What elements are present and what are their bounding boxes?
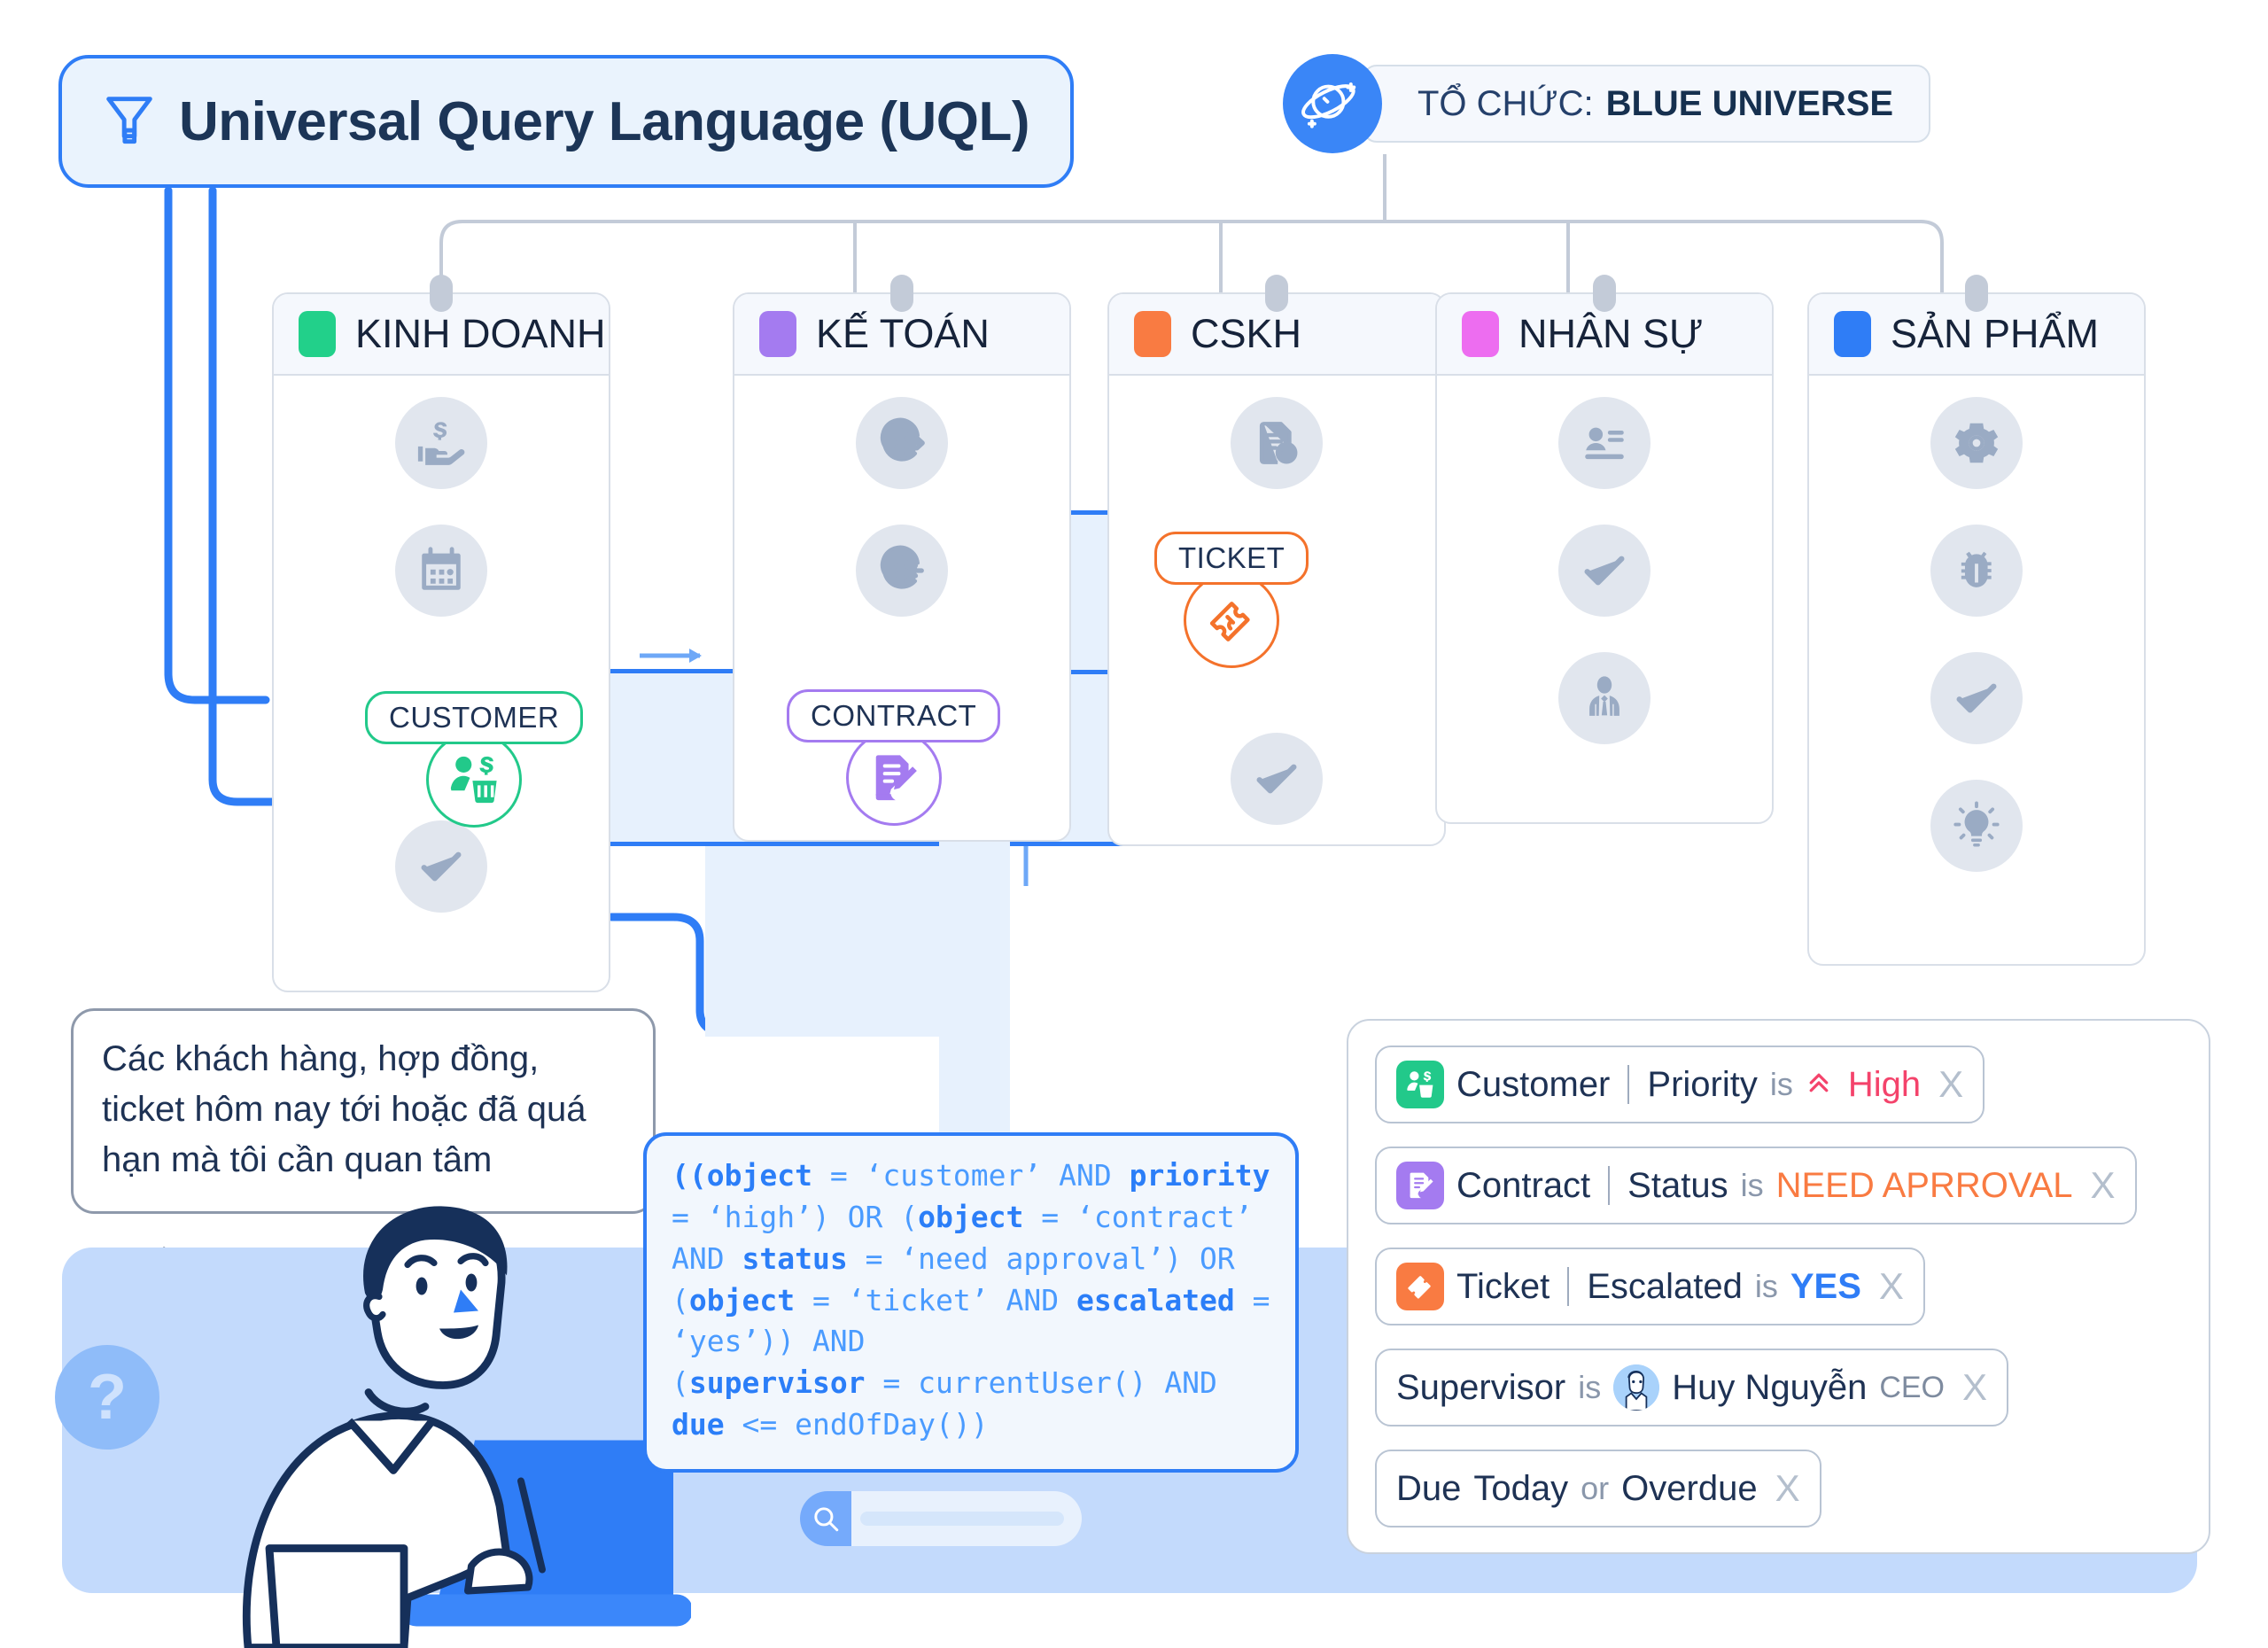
dept-knob: [890, 275, 913, 312]
remove-filter-button[interactable]: X: [1962, 1366, 1987, 1409]
code-line-5: (supervisor = currentUser() AND: [672, 1365, 1217, 1400]
filter-value: NEED APRROVAL: [1776, 1166, 2073, 1206]
dept-color-swatch: [759, 311, 796, 357]
dept-color-swatch: [1134, 311, 1171, 357]
remove-filter-button[interactable]: X: [1879, 1265, 1904, 1308]
document-check-icon: [1231, 397, 1323, 489]
dept-name: KẾ TOÁN: [816, 311, 990, 357]
dept-column-kinh-doanh[interactable]: KINH DOANH: [272, 292, 610, 992]
dept-color-swatch: [1834, 311, 1871, 357]
dept-knob: [1593, 275, 1616, 312]
filter-field: Priority: [1647, 1065, 1757, 1105]
ticket-icon: [1184, 572, 1279, 668]
dept-column-nhan-su[interactable]: NHÂN SỰ: [1435, 292, 1774, 824]
funnel-icon: [105, 92, 154, 152]
lightbulb-icon: [1930, 780, 2023, 872]
dept-knob: [1965, 275, 1988, 312]
filter-value: YES: [1790, 1267, 1861, 1307]
search-icon[interactable]: [800, 1491, 851, 1546]
entity-contract[interactable]: CONTRACT: [787, 689, 1000, 826]
dept-color-swatch: [1462, 311, 1499, 357]
employee-icon: [1558, 652, 1651, 744]
person-illustration: [142, 1201, 691, 1648]
filter-operator: is: [1578, 1369, 1601, 1406]
bug-icon: [1930, 525, 2023, 617]
filter-chip-contract-status[interactable]: Contract Status is NEED APRROVAL X: [1375, 1147, 2137, 1224]
hand-money-icon: [395, 397, 487, 489]
code-line-4: ‘yes’)) AND: [672, 1324, 866, 1358]
filter-panel: Customer Priority is High X Contract Sta…: [1347, 1019, 2210, 1554]
filter-operator: or: [1581, 1470, 1609, 1507]
filter-chip-due[interactable]: Due Today or Overdue X: [1375, 1450, 1821, 1528]
dept-color-swatch: [299, 311, 336, 357]
customer-icon: [1396, 1061, 1444, 1108]
entity-customer[interactable]: CUSTOMER: [365, 691, 583, 828]
entity-tag: CUSTOMER: [365, 691, 583, 744]
filter-chip-supervisor[interactable]: Supervisor is Huy Nguyễn CEO X: [1375, 1349, 2008, 1426]
dept-knob: [430, 275, 453, 312]
filter-field: Today: [1473, 1469, 1568, 1509]
code-line-0: ((object = ‘customer’ AND priority: [672, 1158, 1270, 1193]
filter-field: Escalated: [1587, 1267, 1743, 1307]
filter-object-name: Supervisor: [1396, 1368, 1565, 1408]
dept-name: CSKH: [1191, 311, 1301, 357]
code-line-2: AND status = ‘need approval’) OR: [672, 1241, 1235, 1276]
page-title: Universal Query Language (UQL): [179, 90, 1029, 153]
avatar: [1613, 1364, 1659, 1411]
remove-filter-button[interactable]: X: [1775, 1467, 1800, 1510]
id-card-icon: [1558, 397, 1651, 489]
calendar-icon: [395, 525, 487, 617]
filter-object-name: Ticket: [1456, 1267, 1550, 1307]
query-code: ((object = ‘customer’ AND priority = ‘hi…: [672, 1155, 1272, 1446]
filter-value: High: [1848, 1065, 1921, 1105]
filter-object-name: Contract: [1456, 1166, 1590, 1206]
dept-name: KINH DOANH: [355, 311, 606, 357]
page-title-pill: Universal Query Language (UQL): [58, 55, 1074, 188]
speech-bubble-text: Các khách hàng, hợp đồng, ticket hôm nay…: [102, 1034, 626, 1185]
remove-filter-button[interactable]: X: [2091, 1164, 2116, 1207]
filter-chip-customer-priority[interactable]: Customer Priority is High X: [1375, 1046, 1984, 1123]
filter-field: Status: [1627, 1166, 1728, 1206]
filter-value: Overdue: [1621, 1469, 1757, 1509]
query-code-card: ((object = ‘customer’ AND priority = ‘hi…: [643, 1132, 1299, 1473]
divider: [1608, 1166, 1610, 1205]
contract-icon: [846, 730, 942, 826]
ticket-icon: [1396, 1263, 1444, 1310]
check-icon: [1231, 733, 1323, 825]
entity-ticket[interactable]: TICKET: [1154, 532, 1309, 668]
chevrons-up-icon: [1806, 1068, 1832, 1102]
dept-name: NHÂN SỰ: [1518, 311, 1703, 357]
filter-operator: is: [1770, 1066, 1793, 1103]
filter-operator: is: [1755, 1268, 1778, 1305]
selection-band-fill: [705, 846, 951, 1037]
divider: [1627, 1065, 1629, 1104]
contract-icon: [1396, 1162, 1444, 1209]
money-out-icon: [856, 397, 948, 489]
dept-column-san-pham[interactable]: SẢN PHẨM: [1807, 292, 2146, 966]
entity-tag: TICKET: [1154, 532, 1309, 585]
filter-value: Huy Nguyễn: [1672, 1368, 1867, 1408]
speech-bubble: Các khách hàng, hợp đồng, ticket hôm nay…: [71, 1008, 656, 1214]
filter-chip-ticket-escalated[interactable]: Ticket Escalated is YES X: [1375, 1248, 1925, 1325]
supervisor-role: CEO: [1879, 1371, 1945, 1405]
organization-label: TỔ CHỨC:: [1417, 84, 1594, 124]
gear-icon: [1930, 397, 2023, 489]
remove-filter-button[interactable]: X: [1938, 1063, 1963, 1106]
dept-knob: [1265, 275, 1288, 312]
filter-operator: is: [1741, 1167, 1764, 1204]
planet-icon: [1283, 54, 1382, 153]
organization-value: BLUE UNIVERSE: [1606, 84, 1894, 124]
search-input[interactable]: [851, 1491, 1082, 1546]
code-line-3: (object = ‘ticket’ AND escalated =: [672, 1283, 1270, 1318]
filter-object-name: Customer: [1456, 1065, 1610, 1105]
money-in-icon: [856, 525, 948, 617]
check-icon: [1558, 525, 1651, 617]
search-bar[interactable]: [800, 1491, 1082, 1546]
entity-tag: CONTRACT: [787, 689, 1000, 742]
organization-pill[interactable]: TỔ CHỨC: BLUE UNIVERSE: [1283, 55, 1930, 152]
search-placeholder-line: [860, 1512, 1064, 1526]
check-icon: [1930, 652, 2023, 744]
filter-object-name: Due: [1396, 1469, 1461, 1509]
customer-icon: [426, 732, 522, 828]
code-line-6: due <= endOfDay()): [672, 1407, 989, 1442]
check-icon: [395, 820, 487, 913]
dept-name: SẢN PHẨM: [1891, 311, 2099, 357]
code-line-1: = ‘high’) OR (object = ‘contract’: [672, 1200, 1253, 1234]
divider: [1567, 1267, 1569, 1306]
